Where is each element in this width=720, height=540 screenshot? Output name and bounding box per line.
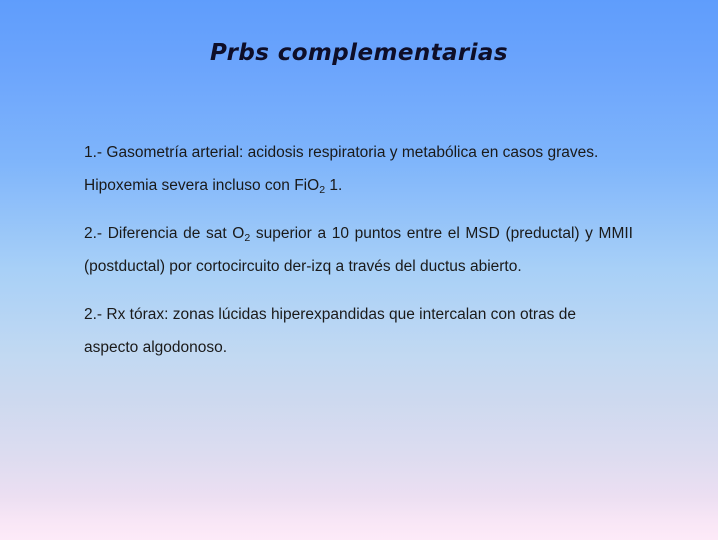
paragraph-2-last-line: del ductus abierto. xyxy=(395,258,522,275)
page-title: Prbs complementarias xyxy=(0,40,718,66)
paragraph-1: 1.- Gasometría arterial: acidosis respir… xyxy=(84,136,633,202)
slide-body: 1.- Gasometría arterial: acidosis respir… xyxy=(84,136,633,379)
paragraph-2: 2.- Diferencia de sat O2 superior a 10 p… xyxy=(84,217,633,283)
slide-canvas: Prbs complementarias 1.- Gasometría arte… xyxy=(0,0,718,540)
paragraph-3: 2.- Rx tórax: zonas lúcidas hiperexpandi… xyxy=(84,298,633,364)
paragraph-2-text: 2.- Diferencia de sat O xyxy=(84,225,244,242)
paragraph-1-text-tail: 1. xyxy=(325,177,342,194)
